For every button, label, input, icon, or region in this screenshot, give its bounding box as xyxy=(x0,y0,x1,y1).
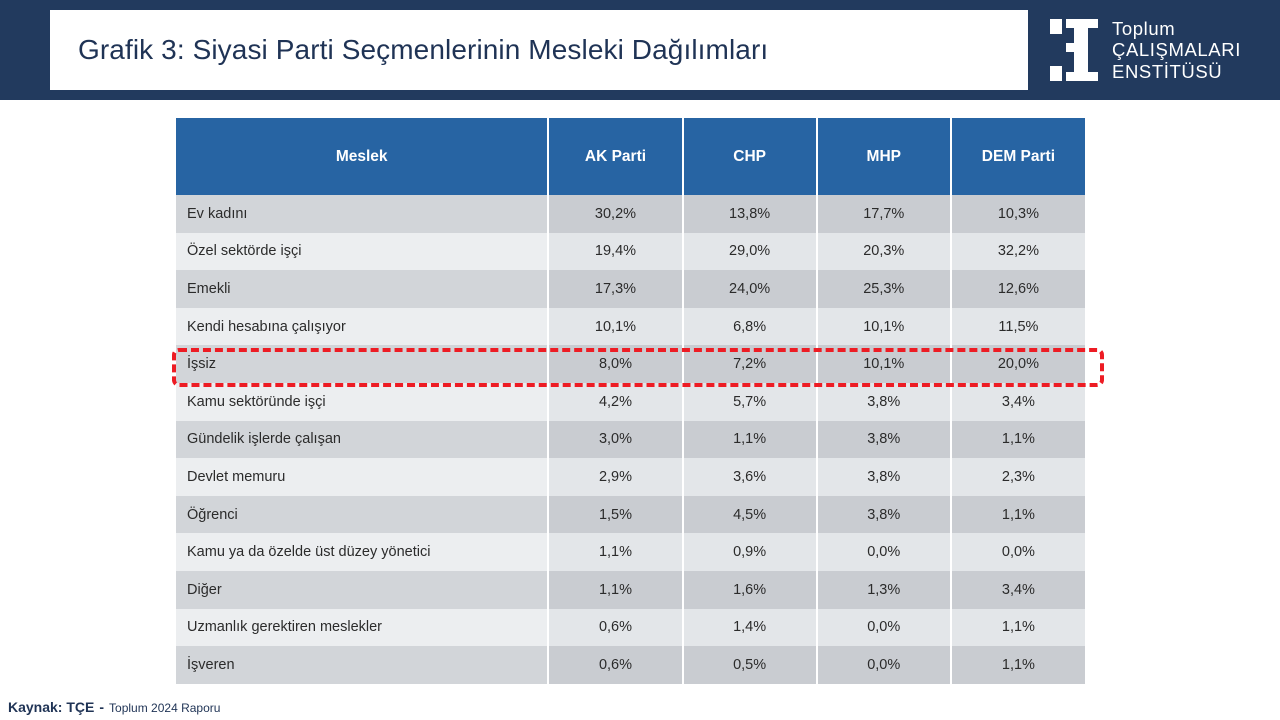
table-row: Ev kadını30,2%13,8%17,7%10,3% xyxy=(176,195,1085,233)
cell-value: 30,2% xyxy=(548,195,682,233)
cell-value: 3,6% xyxy=(683,458,817,496)
cell-value: 3,8% xyxy=(817,421,951,459)
row-label: Öğrenci xyxy=(176,496,548,534)
cell-value: 13,8% xyxy=(683,195,817,233)
cell-value: 1,4% xyxy=(683,609,817,647)
cell-value: 1,1% xyxy=(548,571,682,609)
cell-value: 10,1% xyxy=(817,308,951,346)
cell-value: 0,5% xyxy=(683,646,817,684)
cell-value: 3,4% xyxy=(951,383,1085,421)
table-row: Öğrenci1,5%4,5%3,8%1,1% xyxy=(176,496,1085,534)
cell-value: 1,1% xyxy=(951,609,1085,647)
table-row: Özel sektörde işçi19,4%29,0%20,3%32,2% xyxy=(176,233,1085,271)
table-header-row: MeslekAK PartiCHPMHPDEM Parti xyxy=(176,118,1085,195)
tce-monogram-icon xyxy=(1048,17,1100,83)
cell-value: 1,1% xyxy=(683,421,817,459)
cell-value: 0,0% xyxy=(817,533,951,571)
logo-line-1: Toplum xyxy=(1112,18,1241,40)
row-label: Kendi hesabına çalışıyor xyxy=(176,308,548,346)
cell-value: 3,4% xyxy=(951,571,1085,609)
source-footer: Kaynak: TÇE - Toplum 2024 Raporu xyxy=(8,699,220,715)
cell-value: 32,2% xyxy=(951,233,1085,271)
cell-value: 6,8% xyxy=(683,308,817,346)
cell-value: 1,3% xyxy=(817,571,951,609)
header-underline xyxy=(0,98,1280,100)
logo-text: Toplum ÇALIŞMALARI ENSTİTÜSÜ xyxy=(1112,18,1241,83)
column-header-dem-parti: DEM Parti xyxy=(951,118,1085,195)
cell-value: 1,1% xyxy=(951,421,1085,459)
table-row: Diğer1,1%1,6%1,3%3,4% xyxy=(176,571,1085,609)
cell-value: 19,4% xyxy=(548,233,682,271)
row-label: Emekli xyxy=(176,270,548,308)
cell-value: 0,9% xyxy=(683,533,817,571)
cell-value: 3,8% xyxy=(817,383,951,421)
logo-line-2: ÇALIŞMALARI xyxy=(1112,39,1241,61)
row-label: Gündelik işlerde çalışan xyxy=(176,421,548,459)
row-label: İşsiz xyxy=(176,345,548,383)
cell-value: 10,3% xyxy=(951,195,1085,233)
logo-line-3: ENSTİTÜSÜ xyxy=(1112,61,1241,83)
column-header-meslek: Meslek xyxy=(176,118,548,195)
cell-value: 0,0% xyxy=(817,646,951,684)
cell-value: 1,1% xyxy=(951,646,1085,684)
title-panel: Grafik 3: Siyasi Parti Seçmenlerinin Mes… xyxy=(50,10,1028,90)
table-row: İşveren0,6%0,5%0,0%1,1% xyxy=(176,646,1085,684)
table-row: Kendi hesabına çalışıyor10,1%6,8%10,1%11… xyxy=(176,308,1085,346)
column-header-ak-parti: AK Parti xyxy=(548,118,682,195)
table-row: Gündelik işlerde çalışan3,0%1,1%3,8%1,1% xyxy=(176,421,1085,459)
table-row: Devlet memuru2,9%3,6%3,8%2,3% xyxy=(176,458,1085,496)
cell-value: 0,0% xyxy=(817,609,951,647)
cell-value: 2,9% xyxy=(548,458,682,496)
cell-value: 3,8% xyxy=(817,496,951,534)
cell-value: 7,2% xyxy=(683,345,817,383)
column-header-mhp: MHP xyxy=(817,118,951,195)
cell-value: 17,7% xyxy=(817,195,951,233)
footer-source: Toplum 2024 Raporu xyxy=(109,701,220,715)
cell-value: 0,0% xyxy=(951,533,1085,571)
cell-value: 0,6% xyxy=(548,646,682,684)
table-row: Kamu sektöründe işçi4,2%5,7%3,8%3,4% xyxy=(176,383,1085,421)
cell-value: 8,0% xyxy=(548,345,682,383)
table-header: MeslekAK PartiCHPMHPDEM Parti xyxy=(176,118,1085,195)
table-body: Ev kadını30,2%13,8%17,7%10,3%Özel sektör… xyxy=(176,195,1085,684)
row-label: Özel sektörde işçi xyxy=(176,233,548,271)
cell-value: 25,3% xyxy=(817,270,951,308)
cell-value: 10,1% xyxy=(548,308,682,346)
cell-value: 1,1% xyxy=(548,533,682,571)
column-header-chp: CHP xyxy=(683,118,817,195)
cell-value: 1,6% xyxy=(683,571,817,609)
cell-value: 20,0% xyxy=(951,345,1085,383)
cell-value: 2,3% xyxy=(951,458,1085,496)
occupation-distribution-table-wrap: MeslekAK PartiCHPMHPDEM Parti Ev kadını3… xyxy=(176,118,1085,684)
cell-value: 17,3% xyxy=(548,270,682,308)
footer-label: Kaynak: TÇE xyxy=(8,699,94,715)
row-label: Diğer xyxy=(176,571,548,609)
institute-logo: Toplum ÇALIŞMALARI ENSTİTÜSÜ xyxy=(1048,13,1270,87)
cell-value: 4,5% xyxy=(683,496,817,534)
row-label: Kamu sektöründe işçi xyxy=(176,383,548,421)
table-row: Emekli17,3%24,0%25,3%12,6% xyxy=(176,270,1085,308)
footer-dash: - xyxy=(99,699,104,715)
cell-value: 5,7% xyxy=(683,383,817,421)
cell-value: 4,2% xyxy=(548,383,682,421)
row-label: Ev kadını xyxy=(176,195,548,233)
table-row: Uzmanlık gerektiren meslekler0,6%1,4%0,0… xyxy=(176,609,1085,647)
cell-value: 20,3% xyxy=(817,233,951,271)
cell-value: 3,8% xyxy=(817,458,951,496)
cell-value: 12,6% xyxy=(951,270,1085,308)
occupation-distribution-table: MeslekAK PartiCHPMHPDEM Parti Ev kadını3… xyxy=(176,118,1085,684)
row-label: Uzmanlık gerektiren meslekler xyxy=(176,609,548,647)
cell-value: 1,1% xyxy=(951,496,1085,534)
table-row: İşsiz8,0%7,2%10,1%20,0% xyxy=(176,345,1085,383)
table-row: Kamu ya da özelde üst düzey yönetici1,1%… xyxy=(176,533,1085,571)
cell-value: 0,6% xyxy=(548,609,682,647)
cell-value: 29,0% xyxy=(683,233,817,271)
cell-value: 3,0% xyxy=(548,421,682,459)
slide-root: Grafik 3: Siyasi Parti Seçmenlerinin Mes… xyxy=(0,0,1280,720)
row-label: Devlet memuru xyxy=(176,458,548,496)
cell-value: 24,0% xyxy=(683,270,817,308)
row-label: İşveren xyxy=(176,646,548,684)
row-label: Kamu ya da özelde üst düzey yönetici xyxy=(176,533,548,571)
cell-value: 1,5% xyxy=(548,496,682,534)
cell-value: 10,1% xyxy=(817,345,951,383)
page-title: Grafik 3: Siyasi Parti Seçmenlerinin Mes… xyxy=(50,34,768,66)
cell-value: 11,5% xyxy=(951,308,1085,346)
